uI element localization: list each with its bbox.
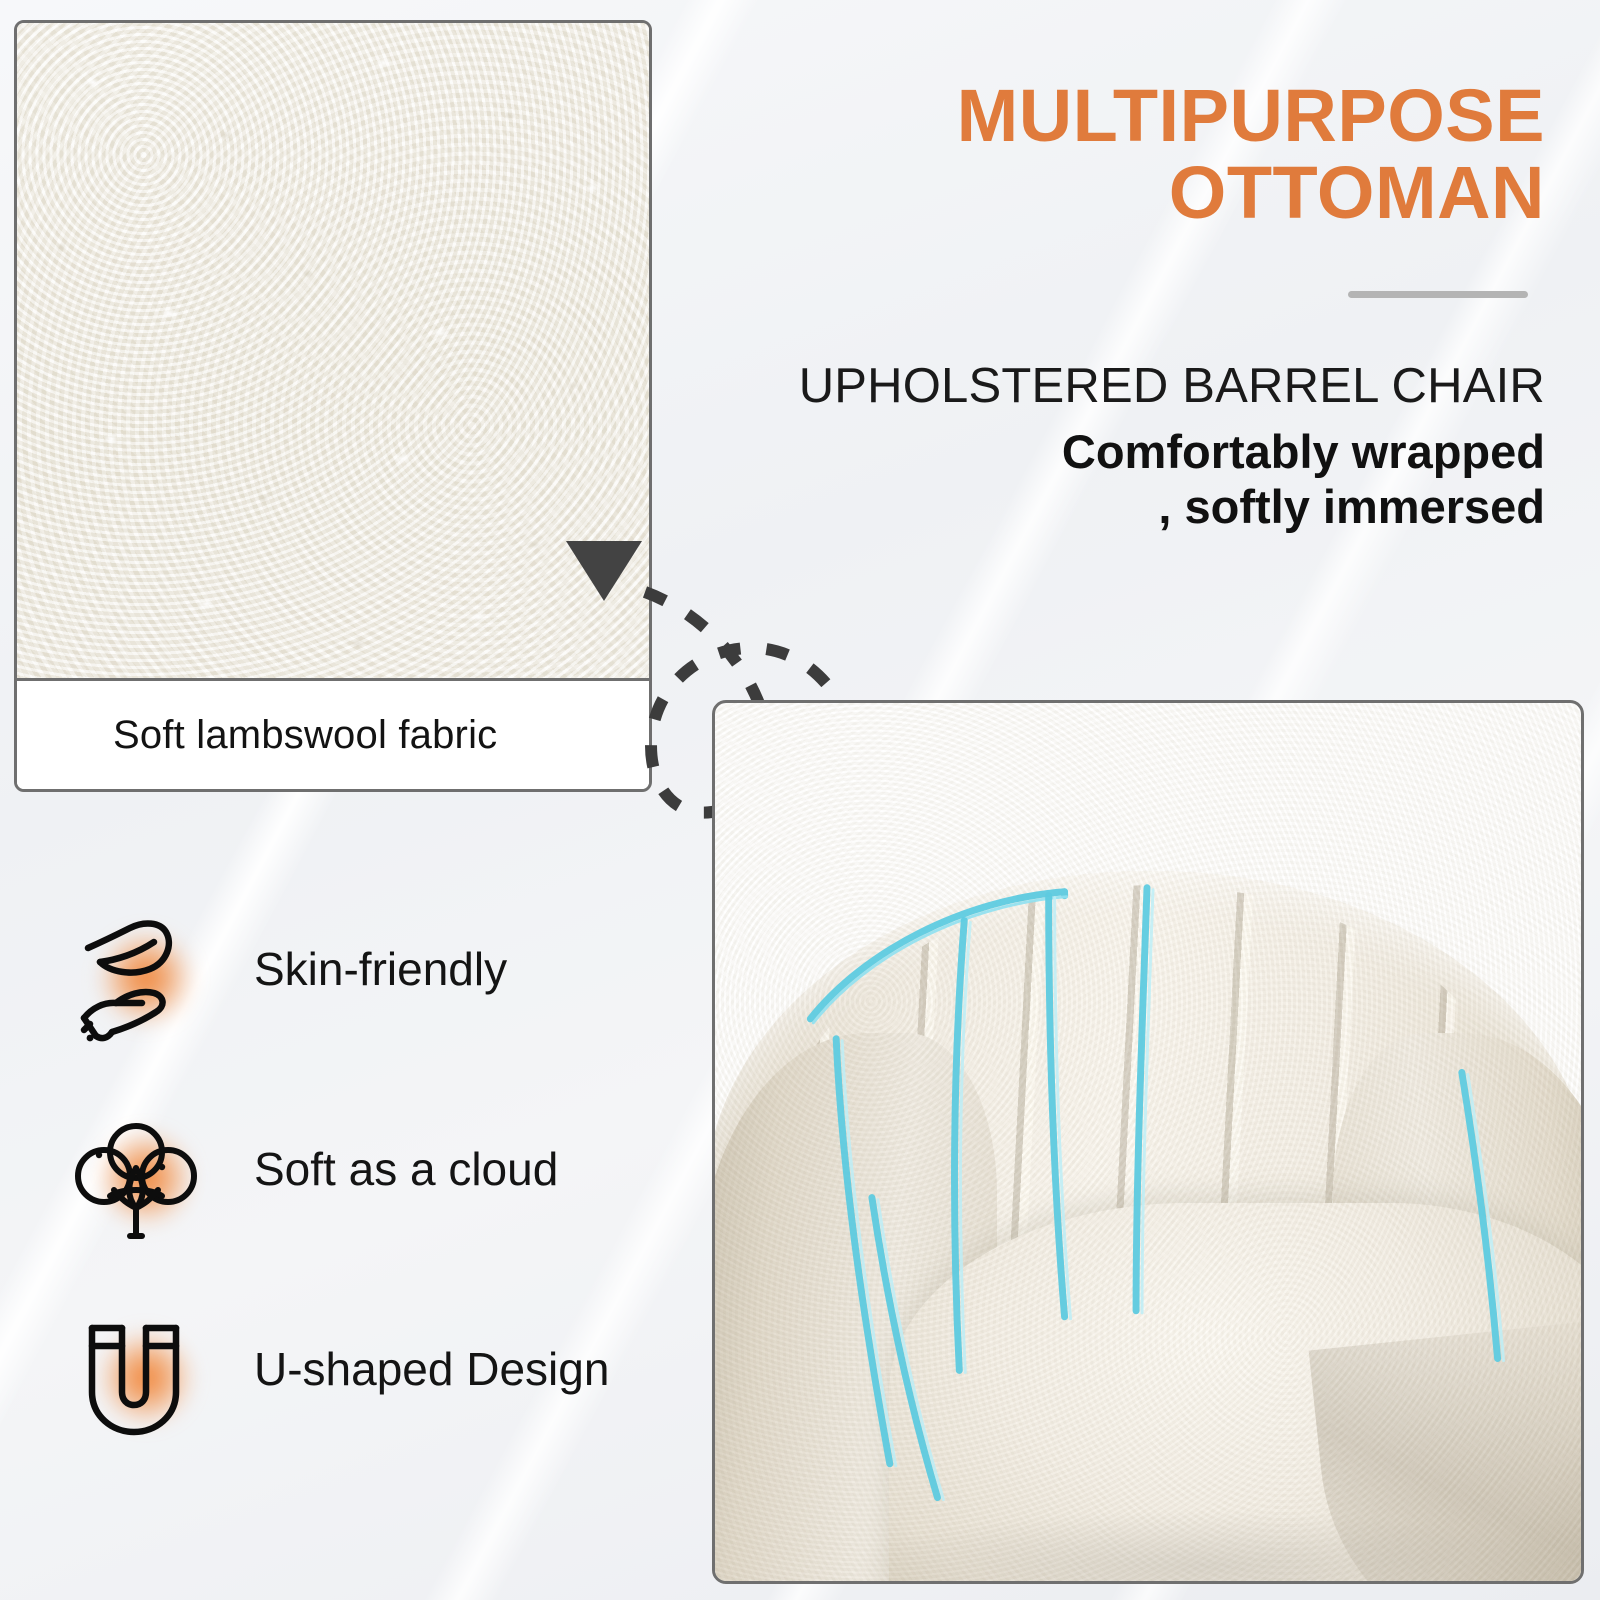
hand-holding-feather-icon [70,904,202,1044]
product-photo-image [715,703,1581,1581]
feature-item-u-shaped-design: U-shaped Design [70,1300,670,1500]
subheading-tagline: Comfortably wrapped , softly immersed [725,425,1545,534]
u-magnet-icon [70,1304,202,1444]
tagline-line-2: , softly immersed [725,480,1545,535]
page-title: MULTIPURPOSE OTTOMAN [785,78,1545,232]
feature-label-soft-as-a-cloud: Soft as a cloud [240,1136,582,1206]
fabric-caption-bar: Soft lambswool fabric [17,678,649,789]
tagline-line-1: Comfortably wrapped [725,425,1545,480]
triangle-down-icon [566,541,642,601]
subheading-title: UPHOLSTERED BARREL CHAIR [725,358,1545,414]
headline-line-1: MULTIPURPOSE [785,78,1545,155]
feature-list: Skin-friendly [70,900,670,1500]
headline-divider [1348,291,1528,298]
product-photo-panel [712,700,1584,1584]
fabric-caption-label: Soft lambswool fabric [113,713,497,758]
cotton-boll-icon [70,1104,202,1244]
cyan-contour-highlights [715,703,1581,1581]
marketing-banner: Soft lambswool fabric [0,0,1600,1600]
fabric-swatch-panel: Soft lambswool fabric [14,20,652,792]
feature-item-skin-friendly: Skin-friendly [70,900,670,1100]
fabric-texture-image [17,23,649,683]
headline-line-2: OTTOMAN [785,155,1545,232]
feature-item-soft-as-a-cloud: Soft as a cloud [70,1100,670,1300]
feature-label-u-shaped-design: U-shaped Design [240,1336,633,1406]
feature-label-skin-friendly: Skin-friendly [240,936,531,1006]
